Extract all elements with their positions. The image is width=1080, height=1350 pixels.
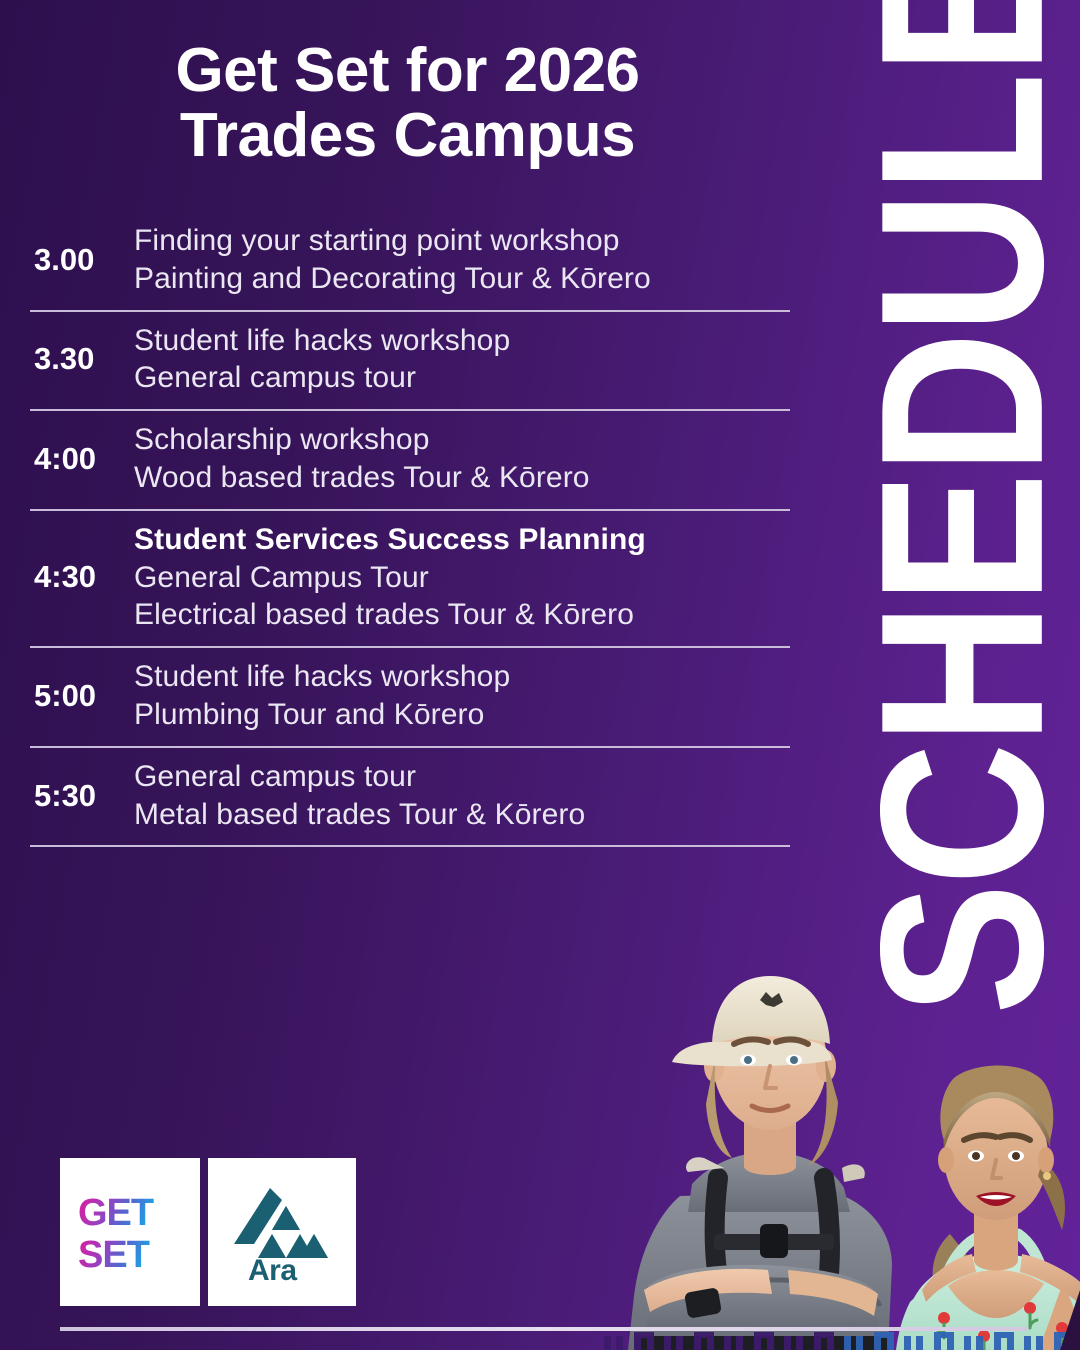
- schedule-time: 3.30: [30, 342, 130, 376]
- page-title-line-2: Trades Campus: [0, 103, 815, 168]
- schedule-row: 4:30Student Services Success PlanningGen…: [30, 511, 790, 648]
- schedule-time: 5:30: [30, 779, 130, 813]
- schedule-item: Student life hacks workshop: [134, 658, 790, 696]
- schedule-item: Plumbing Tour and Kōrero: [134, 696, 790, 734]
- schedule-item: General Campus Tour: [134, 559, 790, 597]
- schedule-time: 3.00: [30, 243, 130, 277]
- logo-block: GET SET: [60, 1158, 356, 1306]
- decorative-pixel-strip: [600, 1328, 1080, 1350]
- schedule-time: 5:00: [30, 679, 130, 713]
- schedule-item: Student Services Success Planning: [134, 521, 790, 559]
- schedule-item: Scholarship workshop: [134, 421, 790, 459]
- schedule-item: Electrical based trades Tour & Kōrero: [134, 596, 790, 634]
- page-title: Get Set for 2026 Trades Campus: [0, 38, 815, 168]
- getset-logo: GET SET: [78, 1191, 182, 1273]
- schedule-time: 4:00: [30, 442, 130, 476]
- schedule-items: Student life hacks workshopGeneral campu…: [130, 322, 790, 398]
- schedule-item: General campus tour: [134, 359, 790, 397]
- schedule-row: 4:00Scholarship workshopWood based trade…: [30, 411, 790, 511]
- schedule-items: Student life hacks workshopPlumbing Tour…: [130, 658, 790, 734]
- vertical-schedule-text: SCHEDULE: [856, 0, 1069, 1015]
- schedule-items: Scholarship workshopWood based trades To…: [130, 421, 790, 497]
- schedule-items: Finding your starting point workshopPain…: [130, 222, 790, 298]
- getset-line-2-text: SET: [78, 1234, 150, 1273]
- schedule-item: Metal based trades Tour & Kōrero: [134, 796, 790, 834]
- schedule-items: General campus tourMetal based trades To…: [130, 758, 790, 834]
- schedule-row: 3.30Student life hacks workshopGeneral c…: [30, 312, 790, 412]
- ara-logo: Ara: [230, 1182, 334, 1282]
- poster-canvas: SCHEDULE Get Set for 2026 Trades Campus …: [0, 0, 1080, 1350]
- vertical-schedule-label: SCHEDULE: [838, 0, 1080, 960]
- schedule-item: Wood based trades Tour & Kōrero: [134, 459, 790, 497]
- students-photo: [592, 866, 1080, 1350]
- schedule-list: 3.00Finding your starting point workshop…: [30, 212, 790, 847]
- page-title-line-1: Get Set for 2026: [0, 38, 815, 103]
- schedule-row: 5:30General campus tourMetal based trade…: [30, 748, 790, 848]
- schedule-time: 4:30: [30, 560, 130, 594]
- schedule-item: General campus tour: [134, 758, 790, 796]
- bottom-divider: [60, 1327, 1028, 1331]
- getset-line-1-text: GET: [78, 1192, 154, 1234]
- corner-wedge: [1050, 1290, 1080, 1350]
- schedule-item: Student life hacks workshop: [134, 322, 790, 360]
- ara-wordmark-text: Ara: [248, 1254, 297, 1282]
- schedule-items: Student Services Success PlanningGeneral…: [130, 521, 790, 634]
- schedule-item: Painting and Decorating Tour & Kōrero: [134, 260, 790, 298]
- schedule-row: 5:00Student life hacks workshopPlumbing …: [30, 648, 790, 748]
- schedule-item: Finding your starting point workshop: [134, 222, 790, 260]
- schedule-row: 3.00Finding your starting point workshop…: [30, 212, 790, 312]
- getset-logo-card: GET SET: [60, 1158, 200, 1306]
- ara-logo-card: Ara: [208, 1158, 356, 1306]
